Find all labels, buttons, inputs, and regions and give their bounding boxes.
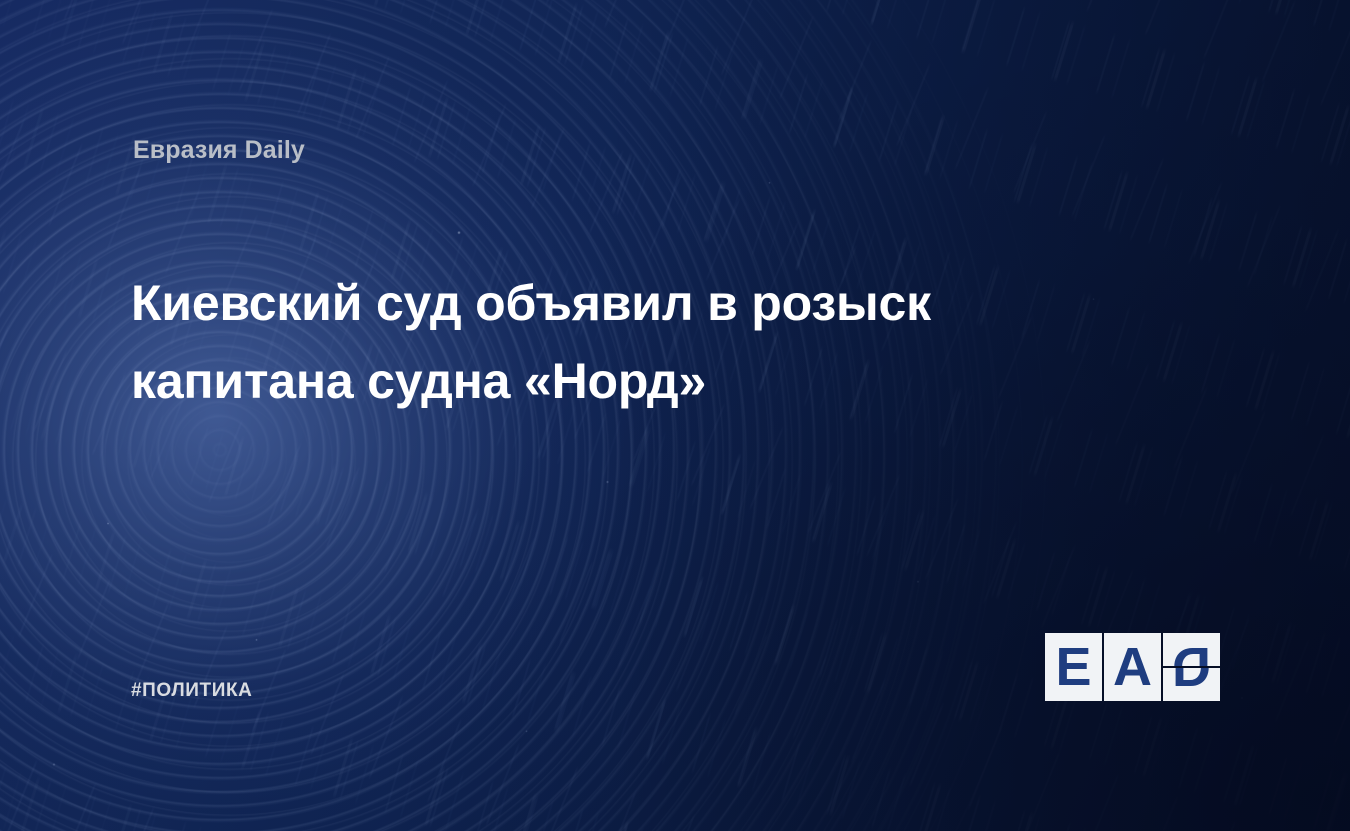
logo-tile-d-split: D D — [1163, 633, 1220, 701]
eadaily-logo[interactable]: E A D D — [1045, 633, 1221, 701]
logo-tile-d-top: D — [1163, 633, 1220, 666]
logo-tile-d-bottom: D — [1163, 668, 1220, 701]
category-tag[interactable]: #ПОЛИТИКА — [131, 680, 253, 702]
headline-line-2: капитана судна «Норд» — [131, 342, 1071, 420]
logo-letter-d-rotated: D — [1163, 633, 1220, 666]
logo-tile-a: A — [1104, 633, 1161, 701]
logo-letter-a: A — [1104, 633, 1161, 701]
logo-letter-d: D — [1163, 668, 1220, 701]
brand-name: Евразия Daily — [133, 136, 305, 165]
news-social-card: Евразия Daily Киевский суд объявил в роз… — [0, 0, 1350, 831]
logo-letter-e: E — [1045, 633, 1102, 701]
headline-line-1: Киевский суд объявил в розыск — [131, 264, 1071, 342]
page-title: Киевский суд объявил в розыск капитана с… — [131, 264, 1071, 420]
logo-tile-e: E — [1045, 633, 1102, 701]
card-content: Евразия Daily Киевский суд объявил в роз… — [0, 0, 1350, 831]
